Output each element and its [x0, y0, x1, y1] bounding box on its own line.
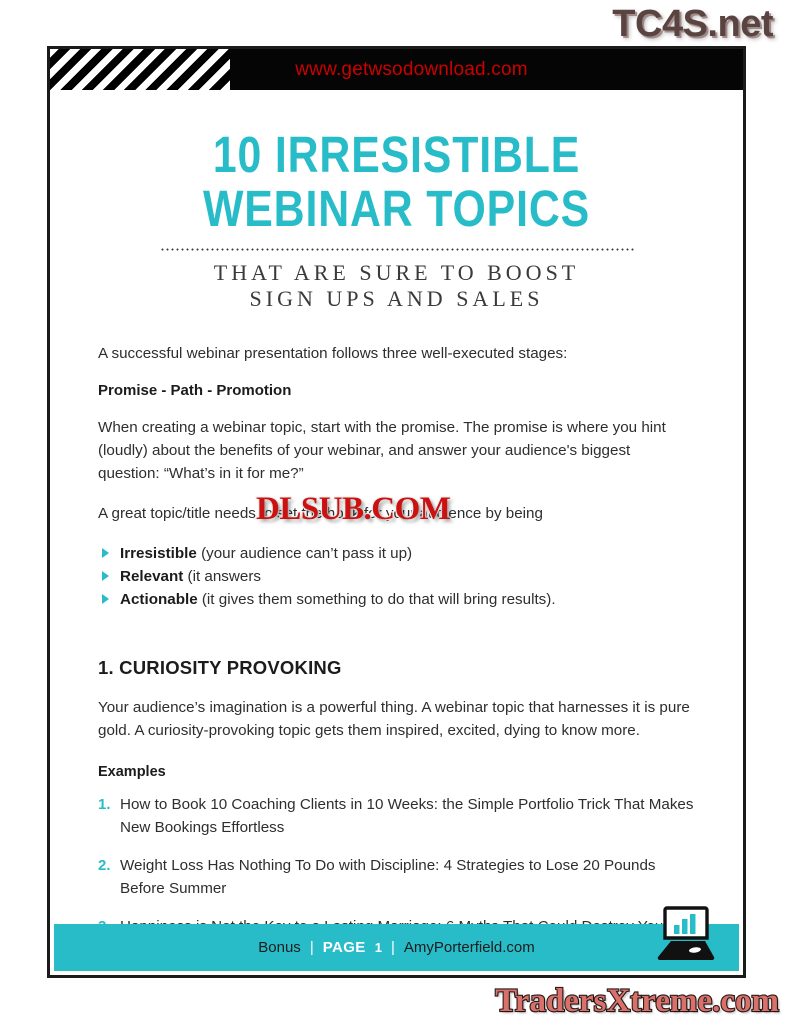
watermark-tradersxtreme: TradersXtreme.com	[495, 982, 779, 1020]
section-heading: 1. CURIOSITY PROVOKING	[98, 657, 695, 679]
footer-caption: Bonus | PAGE 1 | AmyPorterfield.com	[54, 924, 739, 971]
list-item: Irresistible (your audience can’t pass i…	[102, 542, 695, 565]
triangle-bullet-icon	[102, 594, 109, 604]
bullet-detail: (it gives them something to do that will…	[202, 591, 556, 608]
examples-label: Examples	[98, 764, 695, 780]
section-paragraph: Your audience’s imagination is a powerfu…	[98, 696, 695, 742]
footer-separator: |	[391, 939, 395, 956]
list-item: Relevant (it answers	[102, 565, 695, 588]
bullet-term: Irresistible	[120, 545, 197, 562]
triangle-bullet-icon	[102, 548, 109, 558]
footer-page-number: 1	[375, 940, 382, 955]
subtitle-line-2: SIGN UPS AND SALES	[50, 286, 743, 312]
footer-separator: |	[310, 939, 314, 956]
subtitle-line-1: THAT ARE SURE TO BOOST	[50, 260, 743, 286]
list-item: 2. Weight Loss Has Nothing To Do with Di…	[98, 854, 695, 900]
intro-paragraph: A successful webinar presentation follow…	[98, 342, 695, 365]
page-footer-bar: Bonus | PAGE 1 | AmyPorterfield.com	[54, 924, 739, 971]
footer-site-link[interactable]: AmyPorterfield.com	[404, 939, 535, 956]
watermark-tc4s: TC4S.net	[612, 2, 773, 46]
promise-paragraph: When creating a webinar topic, start wit…	[98, 416, 695, 485]
stages-line: Promise - Path - Promotion	[98, 382, 695, 399]
bullet-term: Relevant	[120, 568, 183, 585]
hook-bullet-list: Irresistible (your audience can’t pass i…	[102, 542, 695, 611]
footer-bonus-label: Bonus	[258, 939, 301, 956]
example-text: How to Book 10 Coaching Clients in 10 We…	[120, 796, 693, 836]
example-number: 2.	[98, 854, 111, 877]
page-content: 10 IRRESISTIBLE WEBINAR TOPICS THAT ARE …	[50, 90, 743, 976]
example-number: 1.	[98, 793, 111, 816]
laptop-chart-icon	[655, 905, 717, 963]
list-item: Actionable (it gives them something to d…	[102, 588, 695, 611]
page-title: 10 IRRESISTIBLE WEBINAR TOPICS	[105, 128, 687, 236]
page-header-bar: www.getwsodownload.com	[50, 49, 743, 90]
page-subtitle: THAT ARE SURE TO BOOST SIGN UPS AND SALE…	[50, 260, 743, 312]
watermark-dlsub: DLSUB.COM	[256, 491, 450, 527]
bullet-detail: (it answers	[188, 568, 261, 585]
body-copy: A successful webinar presentation follow…	[98, 312, 695, 961]
list-item: 1. How to Book 10 Coaching Clients in 10…	[98, 793, 695, 839]
dotted-divider	[160, 248, 634, 251]
footer-page-label: PAGE	[323, 939, 366, 956]
watermark-header-url: www.getwsodownload.com	[50, 49, 743, 90]
triangle-bullet-icon	[102, 571, 109, 581]
screenshot-root: TC4S.net www.getwsodownload.com 10 IRRES…	[0, 0, 791, 1024]
bullet-detail: (your audience can’t pass it up)	[201, 545, 412, 562]
example-text: Weight Loss Has Nothing To Do with Disci…	[120, 857, 656, 897]
bullet-term: Actionable	[120, 591, 198, 608]
